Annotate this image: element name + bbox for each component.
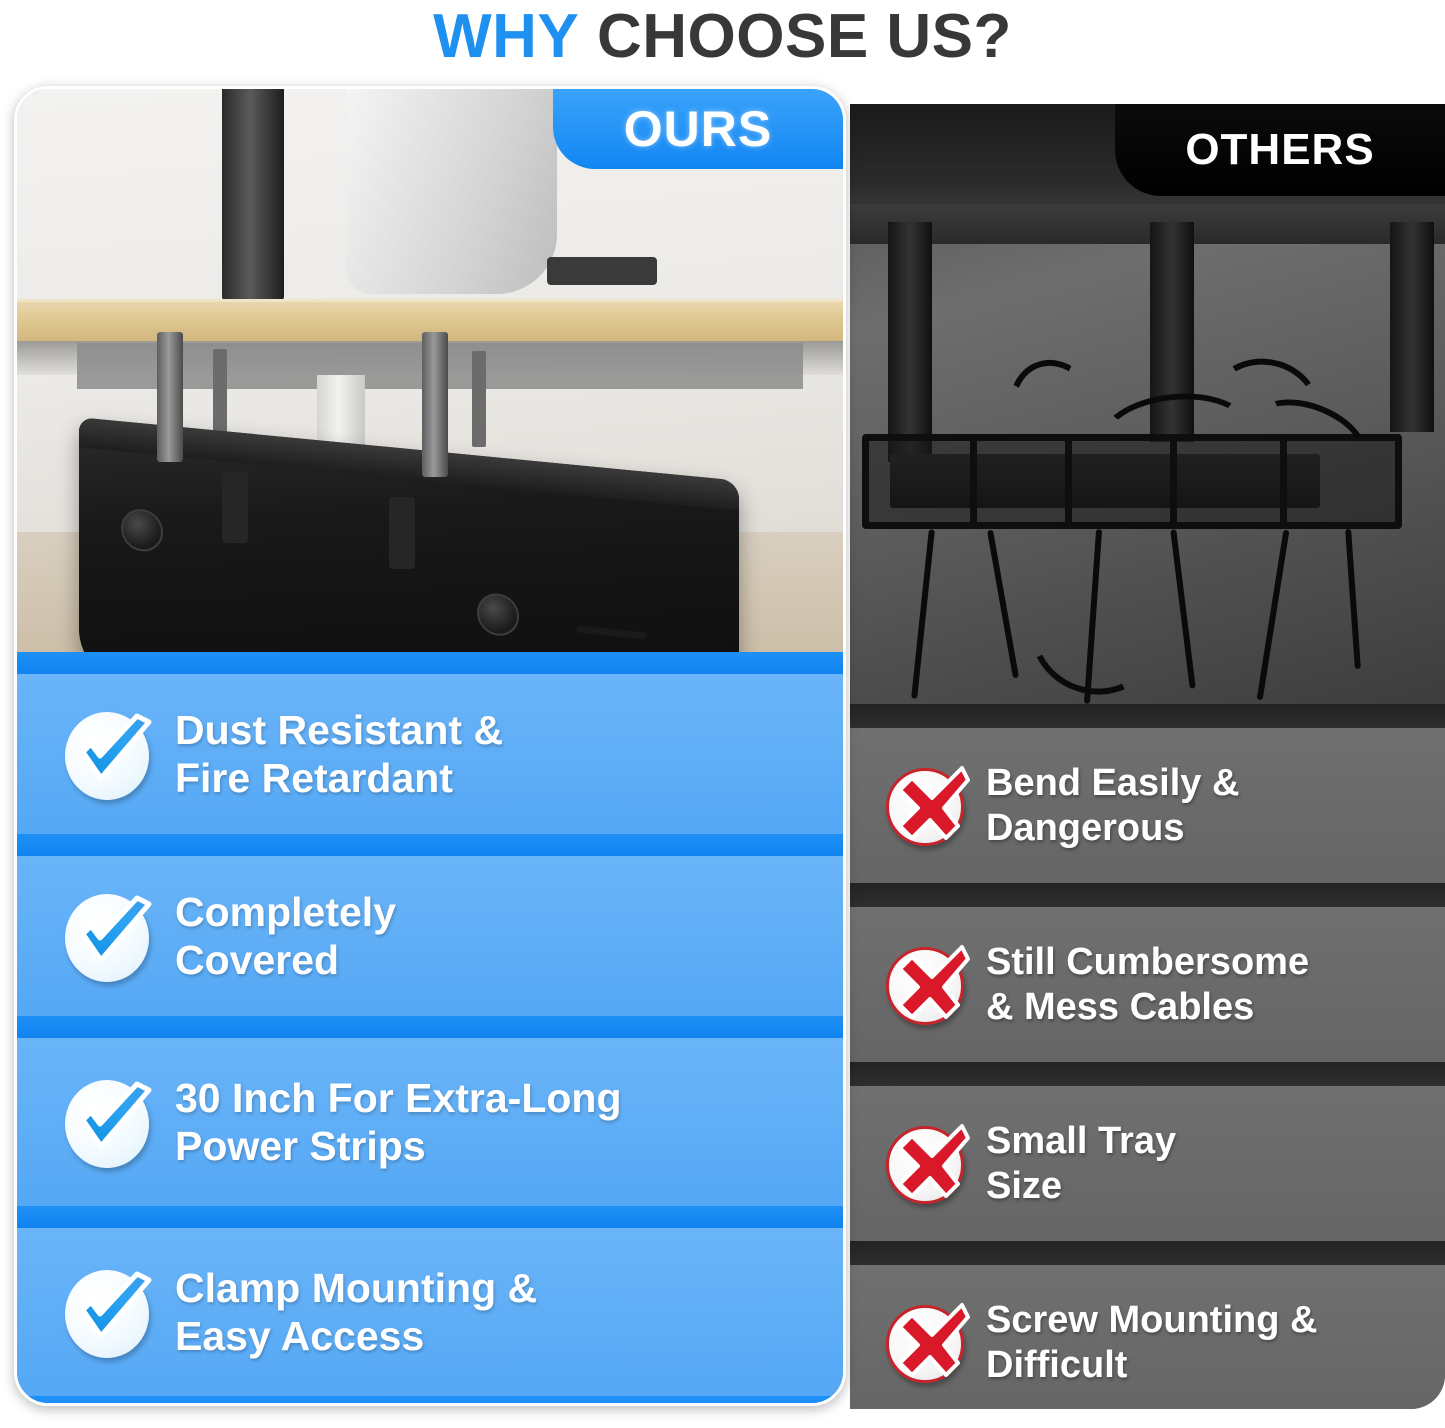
feature-line-1: Clamp Mounting &	[175, 1264, 537, 1312]
photo-power-plug	[547, 257, 657, 285]
others-drawback-row-4: Screw Mounting & Difficult	[850, 1265, 1445, 1409]
check-icon	[63, 888, 159, 984]
drawback-line-2: Difficult	[986, 1343, 1317, 1387]
row-divider	[17, 834, 843, 856]
row-divider	[17, 652, 843, 674]
ours-feature-text-2: Completely Covered	[175, 888, 396, 985]
check-icon	[63, 706, 159, 802]
cross-icon	[882, 1297, 974, 1389]
ours-feature-row-3: 30 Inch For Extra-Long Power Strips	[17, 1038, 843, 1206]
ours-feature-row-1: Dust Resistant & Fire Retardant	[17, 674, 843, 834]
title-rest: CHOOSE US?	[597, 2, 1012, 71]
drawback-line-1: Screw Mounting &	[986, 1298, 1317, 1342]
drawback-line-2: Size	[986, 1164, 1176, 1208]
feature-line-1: 30 Inch For Extra-Long	[175, 1074, 622, 1122]
ours-product-photo	[17, 89, 843, 652]
photo-tray-tab	[222, 471, 248, 543]
others-drawback-row-3: Small Tray Size	[850, 1086, 1445, 1241]
page-title: WHY CHOOSE US?	[0, 0, 1445, 74]
others-drawback-row-2: Still Cumbersome & Mess Cables	[850, 907, 1445, 1062]
photo-mount-clamp	[422, 332, 448, 477]
ours-feature-row-4: Clamp Mounting & Easy Access	[17, 1228, 843, 1396]
feature-line-2: Fire Retardant	[175, 754, 503, 802]
photo-tray-bar	[970, 434, 977, 529]
feature-line-1: Dust Resistant &	[175, 706, 503, 754]
drawback-line-2: Dangerous	[986, 806, 1239, 850]
others-drawback-text-2: Still Cumbersome & Mess Cables	[986, 940, 1309, 1029]
others-panel: OTHERS Bend Easily & Dangerous	[850, 104, 1445, 1409]
check-icon	[63, 1264, 159, 1360]
comparison-panels: OURS	[0, 86, 1445, 1428]
feature-line-2: Covered	[175, 936, 396, 984]
photo-clamp-bolt	[472, 351, 486, 447]
ours-footer-band	[17, 1396, 843, 1406]
others-drawback-text-1: Bend Easily & Dangerous	[986, 761, 1239, 850]
ours-panel: OURS	[14, 86, 846, 1406]
photo-tray-grommet	[121, 507, 163, 553]
ours-feature-text-4: Clamp Mounting & Easy Access	[175, 1264, 537, 1361]
ours-badge-label: OURS	[624, 100, 772, 158]
ours-badge: OURS	[553, 89, 843, 169]
cross-icon	[882, 1118, 974, 1210]
others-drawback-list: Bend Easily & Dangerous Still Cumbersome…	[850, 704, 1445, 1409]
row-divider	[850, 883, 1445, 907]
others-badge: OTHERS	[1115, 104, 1445, 196]
cross-icon	[882, 760, 974, 852]
title-text: WHY CHOOSE US?	[433, 6, 1012, 68]
ours-feature-list: Dust Resistant & Fire Retardant Complete…	[17, 652, 843, 1406]
title-highlight: WHY	[433, 2, 579, 71]
row-divider	[17, 1206, 843, 1228]
others-drawback-text-4: Screw Mounting & Difficult	[986, 1298, 1317, 1387]
feature-line-1: Completely	[175, 888, 396, 936]
check-icon	[63, 1074, 159, 1170]
photo-mount-clamp	[157, 332, 183, 462]
ours-feature-row-2: Completely Covered	[17, 856, 843, 1016]
cross-icon	[882, 939, 974, 1031]
photo-tray-grommet	[477, 592, 519, 638]
photo-monitor-stand	[347, 89, 557, 294]
others-drawback-row-1: Bend Easily & Dangerous	[850, 728, 1445, 883]
row-divider	[850, 1241, 1445, 1265]
others-drawback-text-3: Small Tray Size	[986, 1119, 1176, 1208]
ours-feature-text-3: 30 Inch For Extra-Long Power Strips	[175, 1074, 622, 1171]
drawback-line-2: & Mess Cables	[986, 985, 1309, 1029]
row-divider	[850, 704, 1445, 728]
drawback-line-1: Bend Easily &	[986, 761, 1239, 805]
row-divider	[17, 1016, 843, 1038]
photo-desk-edge	[850, 204, 1445, 244]
photo-tray-tab	[389, 497, 415, 569]
photo-monitor-arm	[222, 89, 284, 304]
photo-mount-post	[888, 222, 932, 462]
others-badge-label: OTHERS	[1185, 125, 1374, 175]
feature-line-2: Power Strips	[175, 1122, 622, 1170]
drawback-line-1: Still Cumbersome	[986, 940, 1309, 984]
photo-mount-post	[1390, 222, 1434, 432]
ours-feature-text-1: Dust Resistant & Fire Retardant	[175, 706, 503, 803]
row-divider	[850, 1062, 1445, 1086]
feature-line-2: Easy Access	[175, 1312, 537, 1360]
drawback-line-1: Small Tray	[986, 1119, 1176, 1163]
